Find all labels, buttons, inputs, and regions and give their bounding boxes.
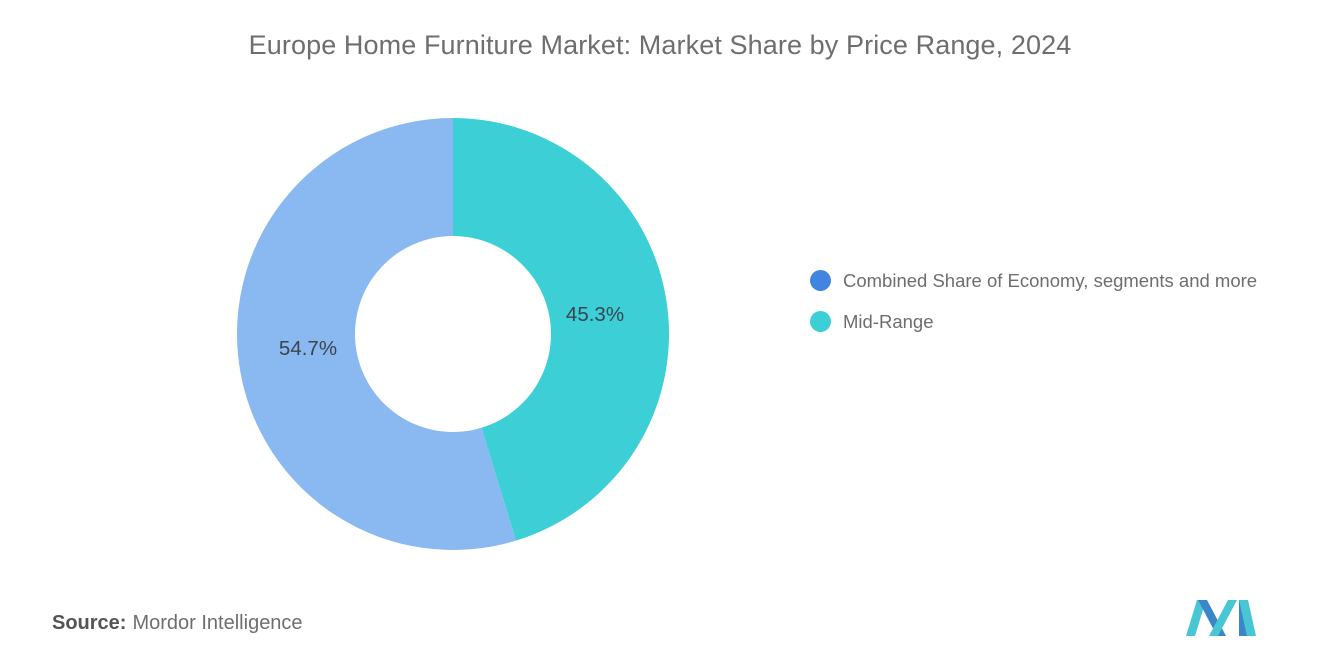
slice-label-combined-share: 54.7%: [279, 337, 337, 360]
legend-swatch-icon-mid-range: [810, 311, 831, 332]
mordor-intelligence-logo: [1184, 598, 1258, 638]
slice-label-mid-range: 45.3%: [566, 303, 624, 326]
chart-legend: Combined Share of Economy, segments and …: [810, 268, 1300, 335]
source-value-label: Mordor Intelligence: [132, 612, 302, 634]
mordor-intelligence-logo-icon: [1184, 598, 1258, 638]
source-prefix-label: Source:: [52, 612, 126, 634]
source-attribution: Source:Mordor Intelligence: [52, 612, 303, 635]
donut-chart: 54.7% 45.3%: [237, 118, 669, 550]
legend-item-mid-range[interactable]: Mid-Range: [810, 309, 1300, 335]
donut-center-hole: [355, 236, 551, 432]
chart-container: Europe Home Furniture Market: Market Sha…: [0, 0, 1320, 665]
legend-label-combined-share: Combined Share of Economy, segments and …: [843, 268, 1257, 294]
legend-swatch-icon-combined-share: [810, 270, 831, 291]
donut-chart-svg: 54.7% 45.3%: [237, 118, 669, 550]
chart-title: Europe Home Furniture Market: Market Sha…: [0, 30, 1320, 61]
legend-label-mid-range: Mid-Range: [843, 309, 934, 335]
legend-item-combined-share[interactable]: Combined Share of Economy, segments and …: [810, 268, 1300, 294]
